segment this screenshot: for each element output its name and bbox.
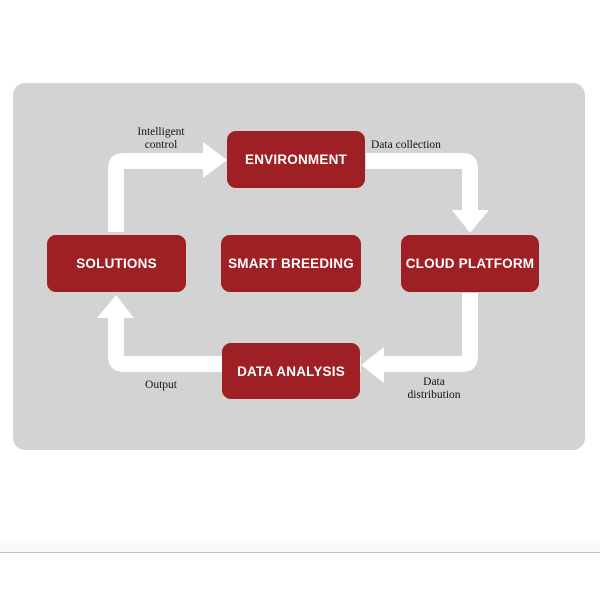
node-cloud-platform[interactable]: CLOUD PLATFORM xyxy=(401,235,539,292)
node-environment[interactable]: ENVIRONMENT xyxy=(227,131,365,188)
node-data-analysis[interactable]: DATA ANALYSIS xyxy=(222,343,360,399)
edge-label-intelligent-control: Intelligent control xyxy=(118,126,204,152)
node-solutions-label: SOLUTIONS xyxy=(76,256,157,271)
node-solutions[interactable]: SOLUTIONS xyxy=(47,235,186,292)
footer-divider xyxy=(0,552,600,553)
edge-label-data-collection: Data collection xyxy=(371,139,479,152)
node-data-analysis-label: DATA ANALYSIS xyxy=(237,364,345,379)
diagram-canvas: ENVIRONMENT SOLUTIONS SMART BREEDING CLO… xyxy=(0,0,600,600)
node-cloud-platform-label: CLOUD PLATFORM xyxy=(406,256,535,271)
edge-label-data-distribution: Data distribution xyxy=(388,376,480,402)
node-smart-breeding[interactable]: SMART BREEDING xyxy=(221,235,361,292)
footer-band xyxy=(0,541,600,552)
node-environment-label: ENVIRONMENT xyxy=(245,152,347,167)
edge-label-output: Output xyxy=(126,379,196,392)
node-smart-breeding-label: SMART BREEDING xyxy=(228,256,354,271)
